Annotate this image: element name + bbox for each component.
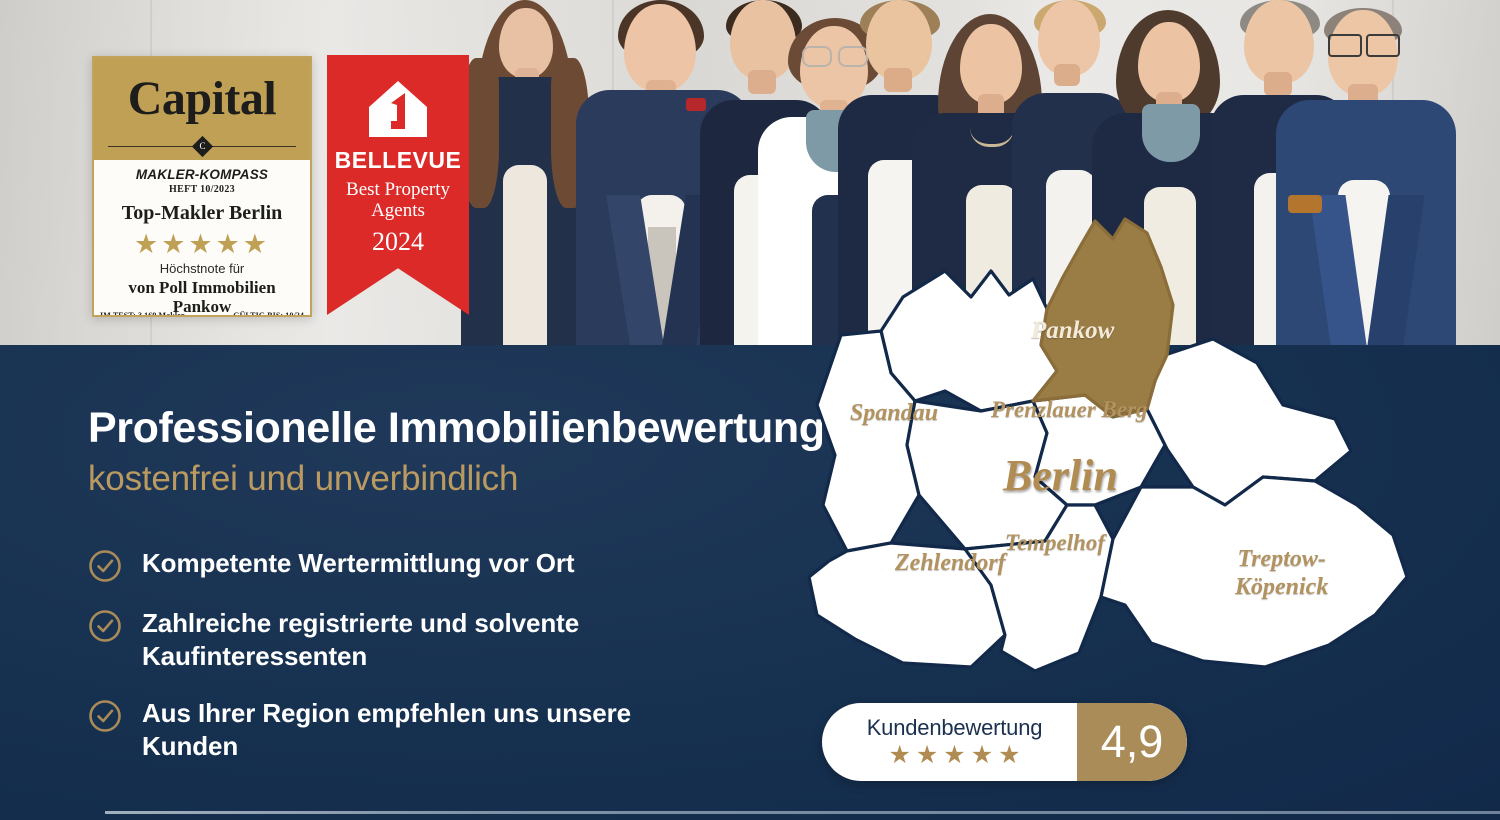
capital-badge-footer: IM TEST: 3.169 Makler GÜLTIG BIS: 10/24 (100, 311, 304, 317)
map-district-shape (1101, 477, 1407, 667)
bellevue-wordmark: BELLEVUE (327, 147, 469, 174)
map-district-shape-pankow (1033, 219, 1173, 417)
capital-kompass-label: MAKLER-KOMPASS (94, 167, 310, 182)
list-item-label: Zahlreiche registrierte und solvente Kau… (142, 607, 668, 673)
team-member (455, 0, 595, 345)
capital-test-count: IM TEST: 3.169 Makler (100, 311, 184, 317)
berlin-district-map: Pankow Spandau Prenzlauer Berg Berlin Te… (795, 205, 1435, 705)
benefits-list: Kompetente Wertermittlung vor Ort Zahlre… (88, 547, 668, 787)
capital-monogram-icon: C (191, 136, 212, 157)
list-item-label: Kompetente Wertermittlung vor Ort (142, 547, 574, 580)
capital-badge-header: Capital C (94, 58, 310, 160)
capital-company-line-1: von Poll Immobilien (94, 278, 310, 297)
capital-award-title: Top-Makler Berlin (94, 202, 310, 225)
capital-issue-label: HEFT 10/2023 (94, 184, 310, 195)
customer-rating-text-group: Kundenbewertung ★★★★★ (822, 703, 1077, 781)
capital-badge-body: MAKLER-KOMPASS HEFT 10/2023 Top-Makler B… (94, 160, 310, 317)
bellevue-year: 2024 (327, 227, 469, 257)
customer-rating-score: 4,9 (1077, 703, 1187, 781)
customer-rating-label: Kundenbewertung (867, 716, 1043, 740)
capital-stars-icon: ★★★★★ (94, 229, 310, 259)
capital-award-badge: Capital C MAKLER-KOMPASS HEFT 10/2023 To… (92, 56, 312, 317)
house-number-one-icon (367, 79, 429, 141)
list-item: Aus Ihrer Region empfehlen uns unsere Ku… (88, 697, 668, 763)
rating-stars-icon: ★★★★★ (883, 741, 1025, 769)
bellevue-subtitle-line-1: Best Property (327, 179, 469, 200)
customer-rating-badge: Kundenbewertung ★★★★★ 4,9 (822, 703, 1187, 781)
landing-hero-banner: Capital C MAKLER-KOMPASS HEFT 10/2023 To… (0, 0, 1500, 820)
list-item: Kompetente Wertermittlung vor Ort (88, 547, 668, 583)
capital-wordmark: Capital (94, 58, 310, 140)
bellevue-subtitle-line-2: Agents (327, 200, 469, 221)
map-district-shape (1147, 339, 1351, 505)
bellevue-subtitle: Best Property Agents (327, 179, 469, 221)
capital-highest-note-label: Höchstnote für (94, 261, 310, 276)
capital-valid-until: GÜLTIG BIS: 10/24 (233, 311, 304, 317)
capital-monogram-letter: C (195, 139, 210, 154)
check-circle-icon (88, 699, 122, 733)
list-item: Zahlreiche registrierte und solvente Kau… (88, 607, 668, 673)
section-divider (105, 811, 1500, 814)
page-subtitle: kostenfrei und unverbindlich (88, 459, 518, 499)
check-circle-icon (88, 549, 122, 583)
list-item-label: Aus Ihrer Region empfehlen uns unsere Ku… (142, 697, 668, 763)
check-circle-icon (88, 609, 122, 643)
page-title: Professionelle Immobilienbewertung (88, 404, 825, 453)
